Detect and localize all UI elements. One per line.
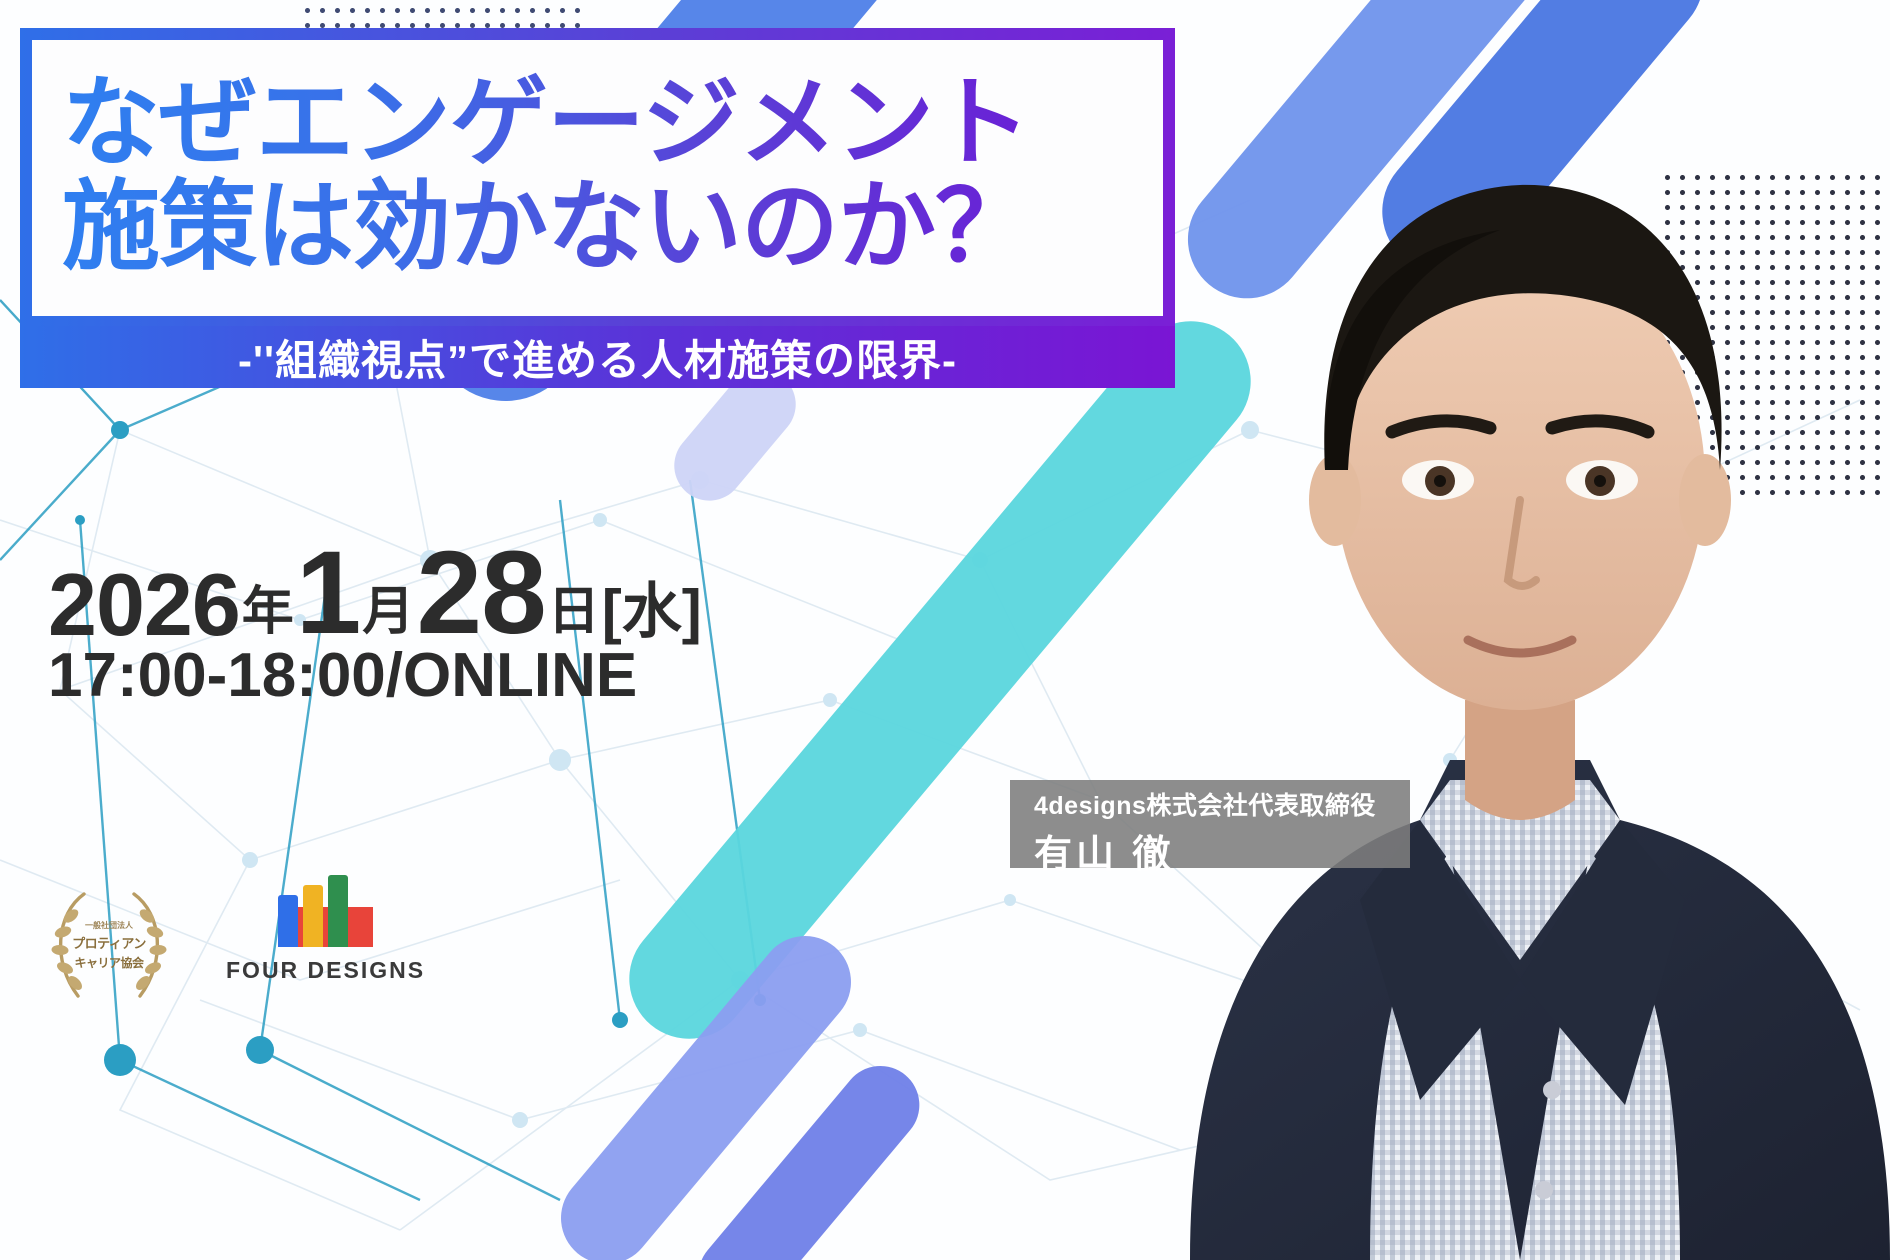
company-logo: FOUR DESIGNS	[226, 907, 425, 984]
date-day: 28	[416, 540, 545, 646]
date-month: 1	[296, 540, 361, 646]
bar-1	[278, 895, 298, 947]
association-logo: 一般社団法人 プロティアン キャリア協会	[44, 880, 174, 1010]
speaker-name: 有山 徹	[1034, 823, 1410, 878]
title-card: なぜエンゲージメント 施策は効かないのか？	[20, 28, 1175, 328]
date-year: 2026	[48, 565, 240, 646]
subtitle-band: -''組織視点”で進める人材施策の限界-	[20, 326, 1175, 388]
association-logo-text: 一般社団法人 プロティアン キャリア協会	[44, 880, 174, 1010]
title-line-1: なぜエンゲージメント	[62, 71, 1137, 175]
speaker-badge: 4designs株式会社代表取締役 有山 徹	[1010, 780, 1410, 868]
association-line1: 一般社団法人	[85, 920, 133, 931]
event-time-online: 17:00-18:00/ONLINE	[48, 640, 637, 711]
bar-3	[328, 875, 348, 947]
title-card-inner: なぜエンゲージメント 施策は効かないのか？	[32, 40, 1163, 316]
title-line-2: 施策は効かないのか？	[62, 175, 1137, 279]
speaker-portrait	[1120, 0, 1890, 1260]
subtitle-text: -''組織視点”で進める人材施策の限界-	[238, 327, 957, 388]
event-date: 2026 年 1 月 28 日 [水]	[48, 540, 702, 646]
company-logo-name: FOUR DESIGNS	[226, 957, 425, 984]
date-day-of-week: [水]	[602, 582, 702, 646]
date-month-unit: 月	[360, 586, 416, 646]
association-line2: プロティアン	[72, 933, 146, 952]
bar-chart-icon	[278, 907, 373, 947]
speaker-role: 4designs株式会社代表取締役	[1034, 786, 1410, 822]
association-line3: キャリア協会	[74, 954, 143, 971]
banner-canvas: なぜエンゲージメント 施策は効かないのか？ -''組織視点”で進める人材施策の限…	[0, 0, 1890, 1260]
date-day-unit: 日	[546, 586, 602, 646]
date-year-unit: 年	[240, 586, 296, 646]
bar-2	[303, 885, 323, 947]
logo-row: 一般社団法人 プロティアン キャリア協会 FOUR DESIGNS	[44, 880, 425, 1010]
